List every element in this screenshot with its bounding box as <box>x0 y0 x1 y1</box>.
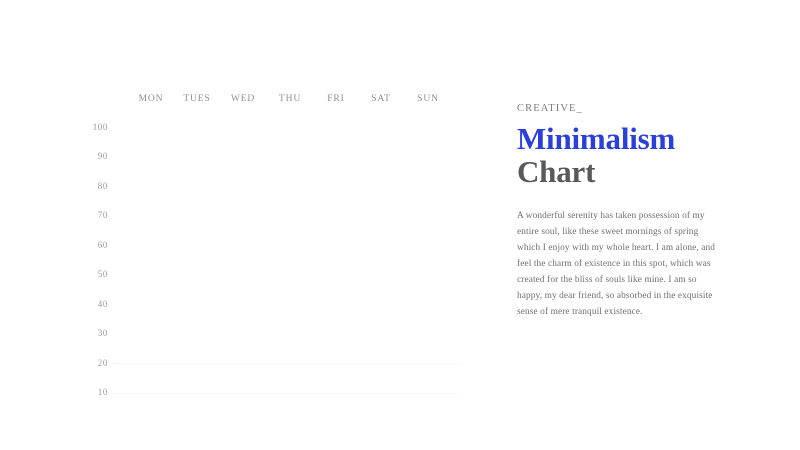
text-panel: CREATIVE_ Minimalism Chart A wonderful s… <box>517 103 722 321</box>
chart-panel: MONTUESWEDTHUFRISATSUN 10090807060504030… <box>0 0 500 450</box>
headline-secondary: Chart <box>517 156 722 189</box>
eyebrow-label: CREATIVE_ <box>517 103 722 114</box>
body-paragraph: A wonderful serenity has taken possessio… <box>517 209 722 321</box>
chart-plot-area <box>0 0 500 450</box>
slide-canvas: MONTUESWEDTHUFRISATSUN 10090807060504030… <box>0 0 800 450</box>
headline-primary: Minimalism <box>517 123 722 156</box>
